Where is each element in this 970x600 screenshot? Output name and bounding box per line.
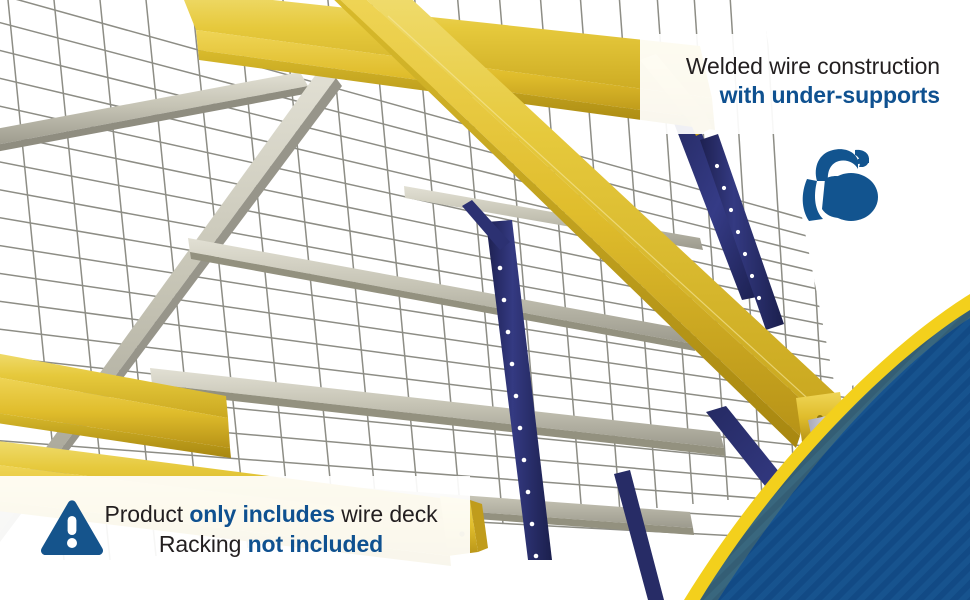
- callout-bottom-line-2-emphasis: not included: [248, 531, 384, 557]
- exclamation-bar: [68, 516, 77, 535]
- callout-bottom-left: Product only includes wire deck Racking …: [96, 500, 446, 560]
- flexed-bicep-icon: [795, 145, 887, 233]
- callout-bottom-line-1-suffix: wire deck: [335, 501, 438, 527]
- callout-bottom-line-2: Racking not included: [96, 530, 446, 560]
- callout-bottom-line-1-prefix: Product: [104, 501, 189, 527]
- callout-bottom-line-1-emphasis: only includes: [189, 501, 335, 527]
- callout-top-right: Welded wire construction with under-supp…: [600, 52, 940, 110]
- product-banner: Welded wire construction with under-supp…: [0, 0, 970, 600]
- callout-top-line-1: Welded wire construction: [600, 52, 940, 81]
- exclamation-dot: [67, 538, 77, 548]
- callout-bottom-line-2-prefix: Racking: [159, 531, 248, 557]
- callout-top-line-2: with under-supports: [600, 81, 940, 110]
- callout-bottom-line-1: Product only includes wire deck: [96, 500, 446, 530]
